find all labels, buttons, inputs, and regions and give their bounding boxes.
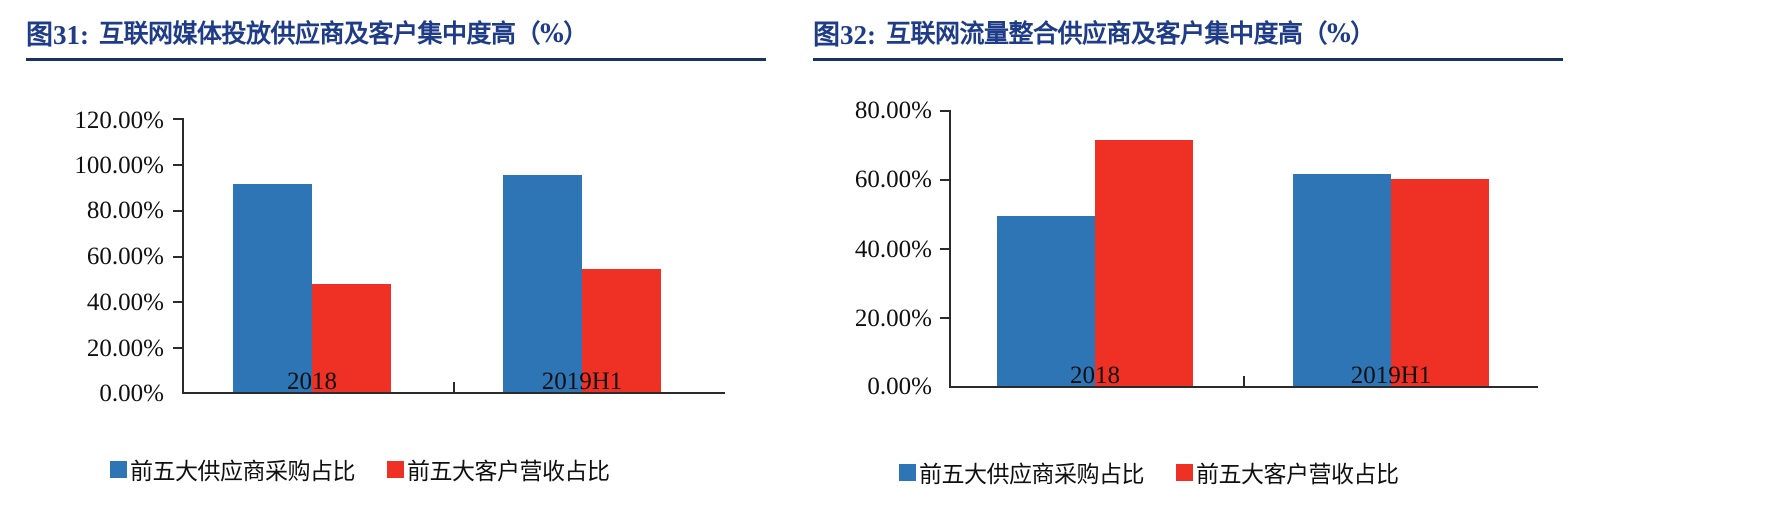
y-axis-tick	[940, 248, 949, 250]
y-tick-label: 40.00%	[817, 237, 932, 262]
y-tick-label: 20.00%	[24, 336, 164, 361]
x-tick-label-2018: 2018	[1005, 362, 1185, 390]
legend-swatch-red-icon	[387, 461, 404, 478]
x-tick-label-2019h1: 2019H1	[512, 368, 652, 396]
bar-2019h1-suppliers	[1293, 174, 1391, 386]
figure-pair-page: 图31: 互联网媒体投放供应商及客户集中度高（%） 120.00% 100.00…	[0, 0, 1766, 524]
legend-item-suppliers[interactable]: 前五大供应商采购占比	[110, 452, 355, 486]
legend-item-suppliers[interactable]: 前五大供应商采购占比	[899, 455, 1144, 489]
y-axis-line	[949, 110, 951, 387]
chart-legend-31: 前五大供应商采购占比 前五大客户营收占比	[110, 452, 610, 486]
y-axis-tick	[173, 210, 182, 212]
y-axis-tick	[173, 256, 182, 258]
y-tick-label: 60.00%	[817, 167, 932, 192]
figure-panel-32: 图32: 互联网流量整合供应商及客户集中度高（%） 80.00% 60.00% …	[801, 0, 1584, 524]
y-axis-tick	[173, 347, 182, 349]
legend-label: 前五大供应商采购占比	[130, 452, 355, 486]
x-axis-minor-tick	[1243, 376, 1245, 386]
x-tick-label-2018: 2018	[242, 368, 382, 396]
y-tick-label: 60.00%	[24, 244, 164, 269]
legend-label: 前五大客户营收占比	[1196, 455, 1399, 489]
y-axis-tick	[940, 110, 949, 112]
y-tick-label: 0.00%	[24, 381, 164, 406]
y-tick-label: 100.00%	[24, 153, 164, 178]
y-axis-tick	[173, 164, 182, 166]
y-tick-label: 0.00%	[817, 374, 932, 399]
bar-2019h1-suppliers	[503, 175, 582, 392]
bar-2018-customers	[1095, 140, 1193, 386]
y-tick-label: 40.00%	[24, 290, 164, 315]
figure-panel-31: 图31: 互联网媒体投放供应商及客户集中度高（%） 120.00% 100.00…	[0, 0, 783, 524]
x-tick-label-2019h1: 2019H1	[1301, 362, 1481, 390]
legend-label: 前五大客户营收占比	[407, 452, 610, 486]
y-tick-label: 80.00%	[24, 198, 164, 223]
legend-swatch-blue-icon	[110, 461, 127, 478]
bar-2019h1-customers	[1391, 179, 1489, 386]
chart-plot-31: 120.00% 100.00% 80.00% 60.00% 40.00% 20.…	[0, 0, 783, 524]
legend-label: 前五大供应商采购占比	[919, 455, 1144, 489]
y-axis-tick	[173, 118, 182, 120]
chart-plot-32: 80.00% 60.00% 40.00% 20.00% 0.00% 2018 2…	[801, 0, 1584, 524]
legend-swatch-blue-icon	[899, 464, 916, 481]
y-axis-tick	[940, 317, 949, 319]
chart-legend-32: 前五大供应商采购占比 前五大客户营收占比	[899, 455, 1399, 489]
y-tick-label: 120.00%	[24, 108, 164, 133]
y-axis-line	[182, 118, 184, 394]
x-axis-minor-tick	[453, 382, 455, 392]
legend-item-customers[interactable]: 前五大客户营收占比	[1176, 455, 1399, 489]
y-tick-label: 80.00%	[817, 98, 932, 123]
y-tick-label: 20.00%	[817, 306, 932, 331]
bar-2018-suppliers	[997, 216, 1095, 386]
bar-2018-suppliers	[233, 184, 312, 392]
y-axis-tick	[940, 179, 949, 181]
y-axis-tick	[173, 301, 182, 303]
legend-item-customers[interactable]: 前五大客户营收占比	[387, 452, 610, 486]
legend-swatch-red-icon	[1176, 464, 1193, 481]
